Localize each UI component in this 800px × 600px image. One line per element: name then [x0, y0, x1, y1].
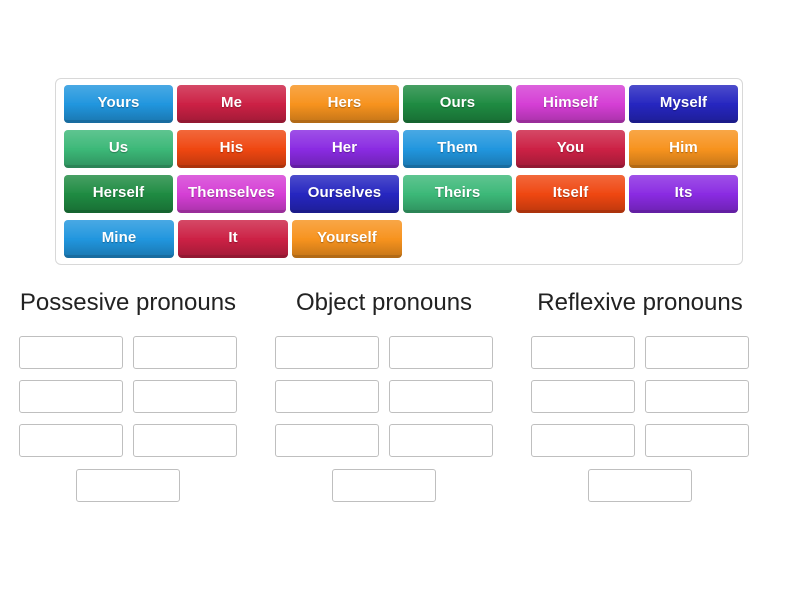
category-column: Possesive pronouns	[0, 288, 256, 513]
draggable-tile[interactable]: Itself	[516, 175, 625, 213]
category-title: Object pronouns	[296, 288, 472, 318]
drop-slot[interactable]	[133, 380, 237, 413]
drop-slot[interactable]	[19, 424, 123, 457]
drop-slot[interactable]	[19, 336, 123, 369]
draggable-tile[interactable]: His	[177, 130, 286, 168]
draggable-tile[interactable]: Its	[629, 175, 738, 213]
drop-slot[interactable]	[645, 424, 749, 457]
drop-slot[interactable]	[531, 424, 635, 457]
tile-row: HerselfThemselvesOurselvesTheirsItselfIt…	[60, 175, 738, 220]
drop-slot[interactable]	[588, 469, 692, 502]
tile-row: MineItYourself	[60, 220, 738, 265]
draggable-tile[interactable]: Him	[629, 130, 738, 168]
drop-slot[interactable]	[133, 336, 237, 369]
drop-slot[interactable]	[332, 469, 436, 502]
tile-row: YoursMeHersOursHimselfMyself	[60, 85, 738, 130]
draggable-tile[interactable]: Me	[177, 85, 286, 123]
category-columns: Possesive pronounsObject pronounsReflexi…	[0, 288, 800, 513]
tile-tray: YoursMeHersOursHimselfMyselfUsHisHerThem…	[55, 78, 743, 265]
drop-slot[interactable]	[645, 380, 749, 413]
drop-slot[interactable]	[531, 336, 635, 369]
drop-slot[interactable]	[275, 336, 379, 369]
category-title: Possesive pronouns	[20, 288, 236, 318]
drop-slot[interactable]	[389, 336, 493, 369]
drop-slot[interactable]	[133, 424, 237, 457]
draggable-tile[interactable]: Yourself	[292, 220, 402, 258]
draggable-tile[interactable]: Themselves	[177, 175, 286, 213]
drop-slot-grid	[522, 336, 758, 513]
drop-slot[interactable]	[275, 424, 379, 457]
drop-slot[interactable]	[76, 469, 180, 502]
drop-slot[interactable]	[389, 380, 493, 413]
drop-slot[interactable]	[275, 380, 379, 413]
drop-slot[interactable]	[531, 380, 635, 413]
draggable-tile[interactable]: Himself	[516, 85, 625, 123]
category-title: Reflexive pronouns	[537, 288, 742, 318]
draggable-tile[interactable]: Them	[403, 130, 512, 168]
drop-slot[interactable]	[19, 380, 123, 413]
drop-slot[interactable]	[645, 336, 749, 369]
tile-row: UsHisHerThemYouHim	[60, 130, 738, 175]
category-column: Reflexive pronouns	[512, 288, 768, 513]
draggable-tile[interactable]: Mine	[64, 220, 174, 258]
draggable-tile[interactable]: Herself	[64, 175, 173, 213]
draggable-tile[interactable]: It	[178, 220, 288, 258]
drop-slot-grid	[266, 336, 502, 513]
draggable-tile[interactable]: Us	[64, 130, 173, 168]
draggable-tile[interactable]: You	[516, 130, 625, 168]
category-column: Object pronouns	[256, 288, 512, 513]
draggable-tile[interactable]: Hers	[290, 85, 399, 123]
drop-slot-grid	[10, 336, 246, 513]
draggable-tile[interactable]: Yours	[64, 85, 173, 123]
draggable-tile[interactable]: Her	[290, 130, 399, 168]
draggable-tile[interactable]: Ours	[403, 85, 512, 123]
draggable-tile[interactable]: Ourselves	[290, 175, 399, 213]
draggable-tile[interactable]: Theirs	[403, 175, 512, 213]
draggable-tile[interactable]: Myself	[629, 85, 738, 123]
drop-slot[interactable]	[389, 424, 493, 457]
